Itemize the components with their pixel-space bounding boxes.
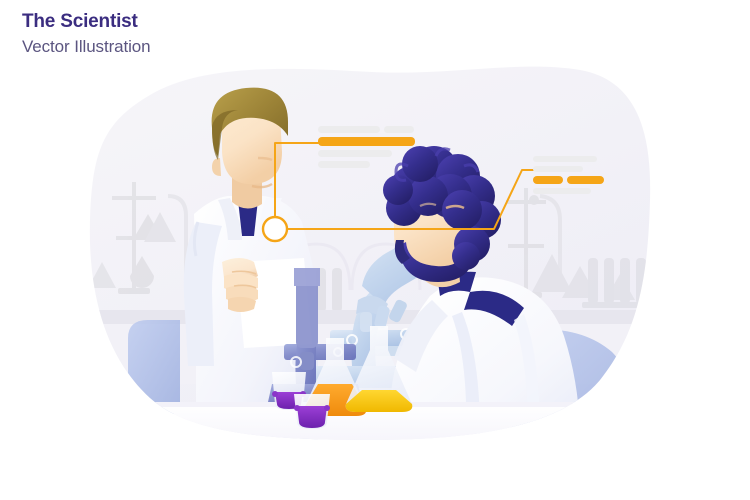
callout-row <box>533 176 605 184</box>
connector-node-circle <box>263 217 287 241</box>
callout-bar-gray <box>384 126 414 133</box>
page-title: The Scientist <box>22 10 151 34</box>
callout-bar-orange <box>533 176 563 184</box>
callout-bar-gray <box>318 161 370 168</box>
callout-bar-gray <box>318 126 380 133</box>
page-subtitle: Vector Illustration <box>22 36 151 58</box>
scientist-illustration <box>0 0 750 500</box>
callout-row <box>318 126 418 133</box>
callout-row <box>318 150 418 157</box>
chair-left <box>128 320 180 414</box>
callout-row <box>533 166 605 172</box>
callout-row <box>533 156 605 162</box>
callout-row <box>318 137 418 146</box>
page-header: The Scientist Vector Illustration <box>22 10 151 58</box>
callout-bar-gray <box>533 188 591 194</box>
illustration-page: The Scientist Vector Illustration <box>0 0 750 500</box>
annotation-callout-left <box>318 126 418 172</box>
callout-bar-gray <box>318 150 392 157</box>
annotation-callout-right <box>533 156 605 198</box>
callout-bar-orange <box>567 176 604 184</box>
beaker-purple-front <box>294 394 330 429</box>
callout-bar-gray <box>533 156 597 162</box>
callout-row <box>533 188 605 194</box>
callout-bar-orange <box>318 137 415 146</box>
callout-bar-gray <box>533 166 583 172</box>
callout-row <box>318 161 418 168</box>
